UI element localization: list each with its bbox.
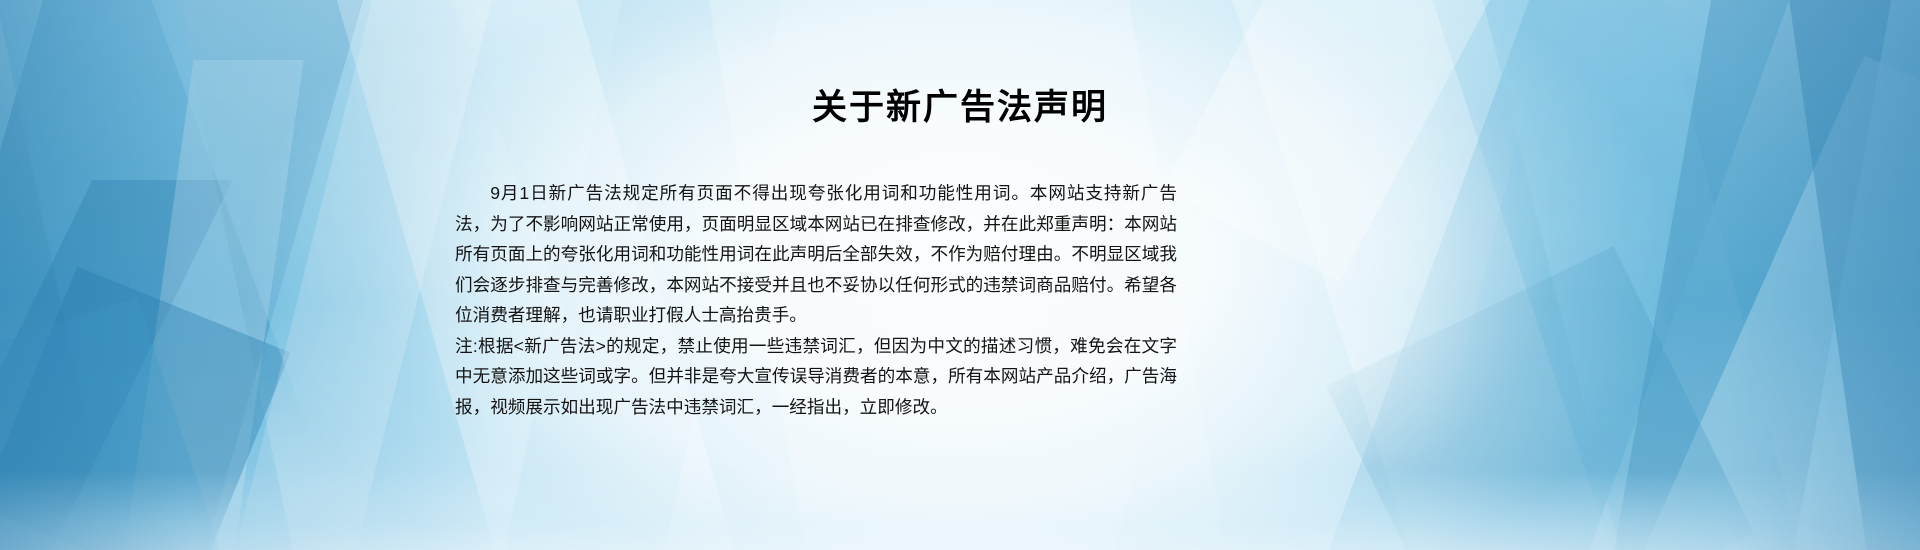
page-title: 关于新广告法声明 [0,86,1920,130]
announcement-paragraph-1: 9月1日新广告法规定所有页面不得出现夸张化用词和功能性用词。本网站支持新广告法，… [455,178,1177,331]
announcement-banner: 关于新广告法声明 9月1日新广告法规定所有页面不得出现夸张化用词和功能性用词。本… [0,0,1920,550]
announcement-body: 9月1日新广告法规定所有页面不得出现夸张化用词和功能性用词。本网站支持新广告法，… [455,178,1177,422]
announcement-paragraph-2: 注:根据<新广告法>的规定，禁止使用一些违禁词汇，但因为中文的描述习惯，难免会在… [455,331,1177,423]
announcement-content: 关于新广告法声明 9月1日新广告法规定所有页面不得出现夸张化用词和功能性用词。本… [0,0,1920,550]
